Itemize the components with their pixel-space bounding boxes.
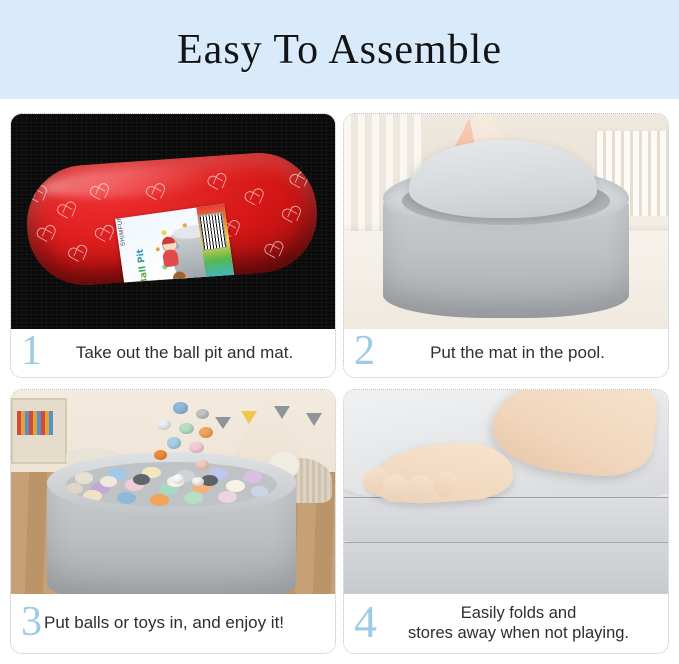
step-2-photo	[344, 114, 668, 331]
step-1-caption: 1 Take out the ball pit and mat.	[11, 329, 335, 377]
page-title: Easy To Assemble	[177, 26, 502, 74]
step-caption-text-2: Put the mat in the pool.	[377, 343, 664, 363]
falling-ball	[196, 409, 209, 419]
package-brand: SHIMFUN	[117, 215, 127, 246]
falling-ball	[167, 437, 182, 448]
barcode	[198, 212, 227, 251]
falling-ball	[192, 477, 203, 486]
step-2-caption: 2 Put the mat in the pool.	[344, 329, 668, 377]
falling-ball	[173, 474, 184, 483]
step-caption-text-4: Easily folds and stores away when not pl…	[379, 604, 664, 643]
step-number-2: 2	[350, 330, 377, 376]
step-4-photo	[344, 390, 668, 596]
falling-ball	[173, 402, 188, 413]
ball-pile	[66, 462, 277, 507]
infographic-sheet: Easy To Assemble	[0, 0, 679, 664]
step-3-photo	[11, 390, 335, 596]
falling-ball	[189, 442, 204, 453]
step-3-caption: 3 Put balls or toys in, and enjoy it!	[11, 594, 335, 653]
step-number-4: 4	[350, 601, 379, 647]
bunting-flag	[274, 406, 290, 419]
bunting-flag	[215, 417, 231, 429]
steps-grid: SHIMFUN Foam Ball Pit For Kids	[10, 113, 669, 661]
step-caption-text-1: Take out the ball pit and mat.	[44, 343, 331, 363]
step-panel-3: 3 Put balls or toys in, and enjoy it!	[10, 389, 336, 654]
mat-bottom-layer	[344, 542, 668, 596]
step-caption-text-3: Put balls or toys in, and enjoy it!	[44, 613, 331, 633]
step-number-3: 3	[17, 601, 44, 647]
header-banner: Easy To Assemble	[0, 0, 679, 99]
step-panel-1: SHIMFUN Foam Ball Pit For Kids	[10, 113, 336, 378]
product-package: SHIMFUN Foam Ball Pit For Kids	[23, 149, 321, 289]
falling-ball	[196, 460, 209, 470]
bunting-flag	[241, 411, 257, 424]
step-number-1: 1	[17, 330, 44, 376]
books	[17, 411, 53, 436]
step-panel-2: 2 Put the mat in the pool.	[343, 113, 669, 378]
bunting-flag	[306, 413, 322, 426]
falling-ball	[154, 450, 167, 460]
step-4-caption: 4 Easily folds and stores away when not …	[344, 594, 668, 653]
step-1-photo: SHIMFUN Foam Ball Pit For Kids	[11, 114, 335, 331]
step-panel-4: 4 Easily folds and stores away when not …	[343, 389, 669, 654]
